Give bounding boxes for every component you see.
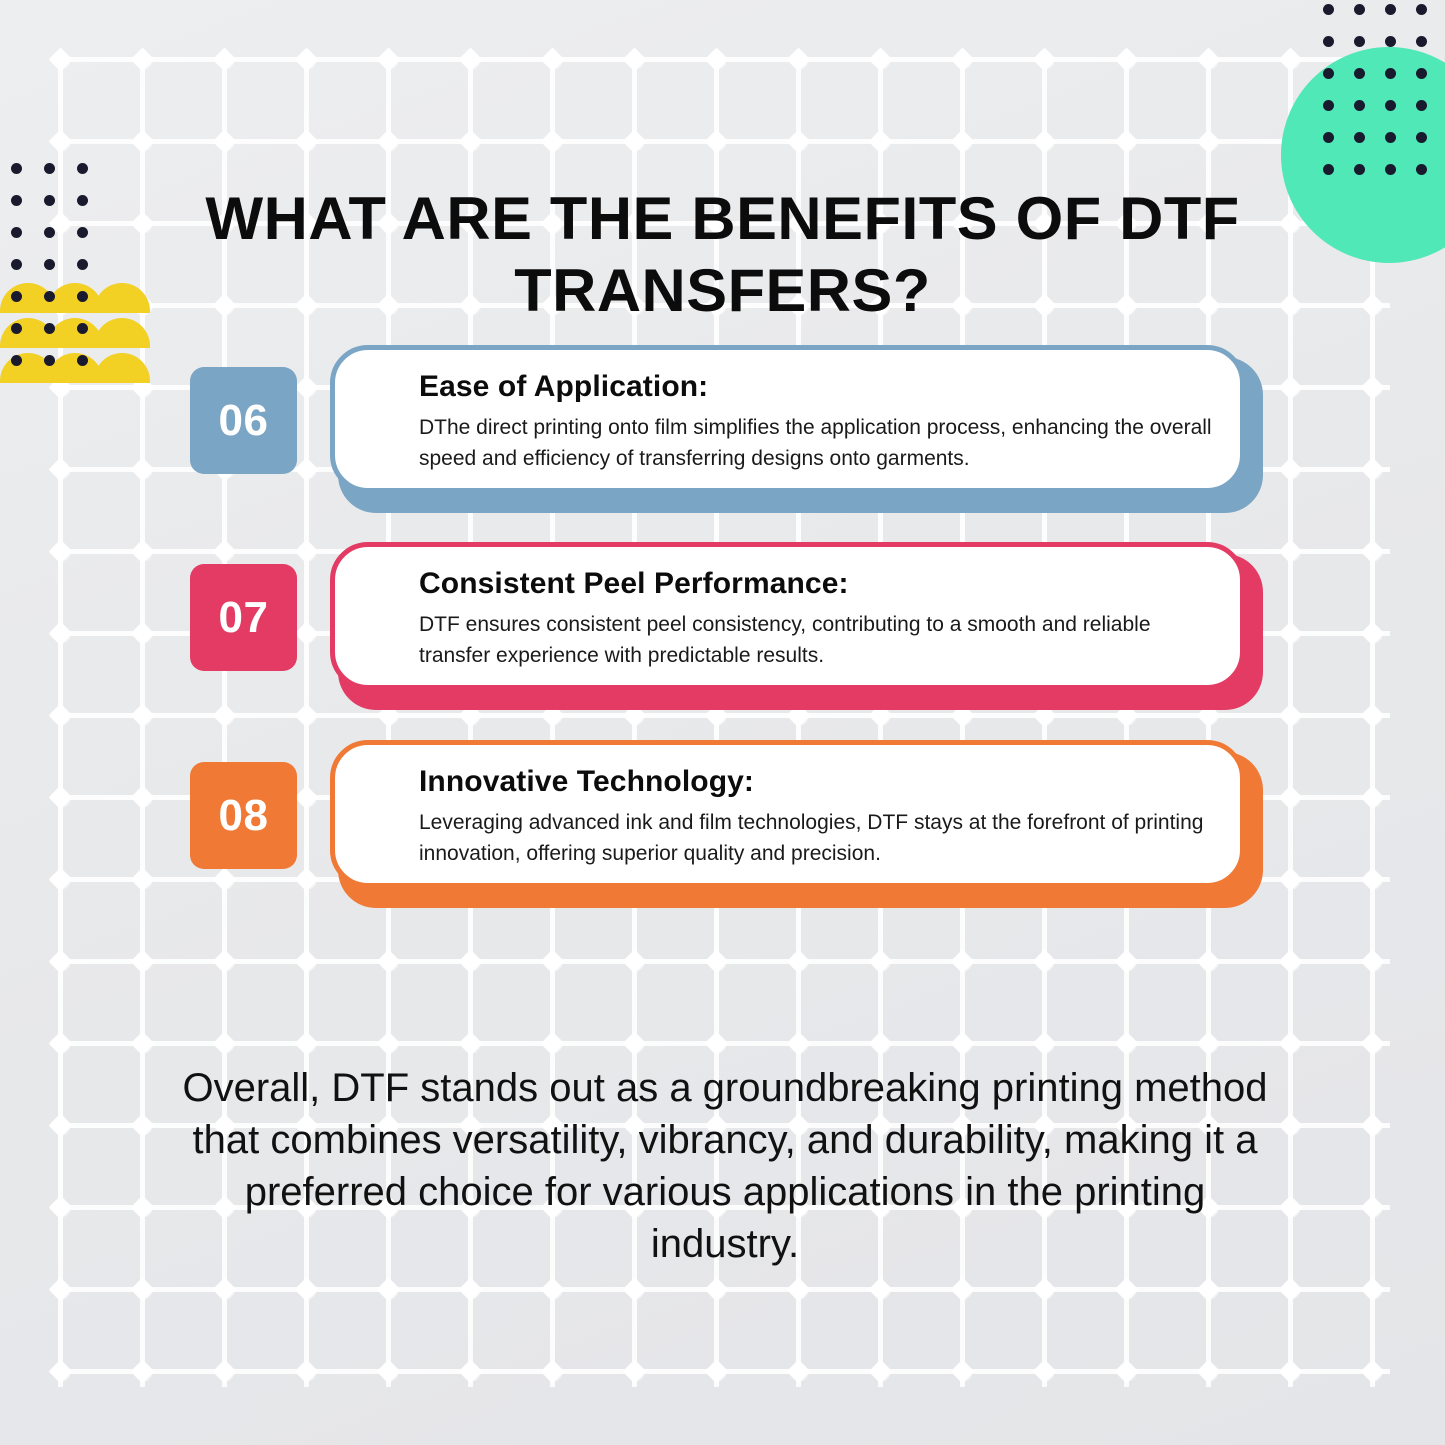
decorative-dot: [1416, 132, 1427, 143]
benefit-card-body: DThe direct printing onto film simplifie…: [419, 412, 1224, 474]
decorative-dot: [1385, 100, 1396, 111]
decorative-dot: [77, 227, 88, 238]
decorative-dot: [1354, 100, 1365, 111]
decorative-dot: [1354, 68, 1365, 79]
benefit-card-shell: Ease of Application:DThe direct printing…: [330, 345, 1255, 509]
benefit-number-badge: 07: [190, 564, 297, 671]
decorative-dot: [1323, 68, 1334, 79]
decorative-dot: [1385, 68, 1396, 79]
decorative-dot: [1416, 100, 1427, 111]
decorative-dot: [44, 259, 55, 270]
decorative-dot: [1323, 164, 1334, 175]
decorative-dot: [1354, 164, 1365, 175]
decorative-dot: [1416, 36, 1427, 47]
benefit-card-shell: Innovative Technology:Leveraging advance…: [330, 740, 1255, 904]
benefit-card-text: Consistent Peel Performance:DTF ensures …: [419, 565, 1224, 671]
decorative-dot: [1385, 164, 1396, 175]
benefit-card-heading: Innovative Technology:: [419, 763, 1224, 801]
decorative-dot: [1385, 36, 1396, 47]
decorative-dot: [77, 163, 88, 174]
decorative-dot: [77, 291, 88, 302]
decorative-dot: [1416, 68, 1427, 79]
benefit-number-badge: 06: [190, 367, 297, 474]
decorative-dot: [77, 323, 88, 334]
decorative-dot: [77, 355, 88, 366]
yellow-half-circle: [94, 283, 150, 313]
decorative-dot: [11, 163, 22, 174]
benefit-card-text: Innovative Technology:Leveraging advance…: [419, 763, 1224, 869]
decorative-dot: [1323, 132, 1334, 143]
decorative-dot: [44, 195, 55, 206]
decorative-dot: [77, 195, 88, 206]
decorative-dot: [11, 195, 22, 206]
decorative-dot: [44, 291, 55, 302]
benefit-card[interactable]: 06Ease of Application:DThe direct printi…: [190, 345, 1270, 509]
benefit-card-text: Ease of Application:DThe direct printing…: [419, 368, 1224, 474]
benefit-card-face: Consistent Peel Performance:DTF ensures …: [330, 542, 1245, 690]
closing-paragraph: Overall, DTF stands out as a groundbreak…: [180, 1062, 1270, 1270]
yellow-half-circles-decoration: [0, 283, 150, 388]
decorative-dot: [1354, 132, 1365, 143]
decorative-dot: [1385, 132, 1396, 143]
yellow-half-circle: [94, 318, 150, 348]
benefit-card-body: DTF ensures consistent peel consistency,…: [419, 609, 1224, 671]
page-title: WHAT ARE THE BENEFITS OF DTF TRANSFERS?: [169, 183, 1276, 327]
decorative-dot: [44, 355, 55, 366]
decorative-dot: [11, 291, 22, 302]
benefit-card[interactable]: 08Innovative Technology:Leveraging advan…: [190, 740, 1270, 904]
benefit-card-shell: Consistent Peel Performance:DTF ensures …: [330, 542, 1255, 706]
decorative-dot: [44, 227, 55, 238]
decorative-dot: [1416, 164, 1427, 175]
decorative-dot: [1323, 36, 1334, 47]
decorative-dot: [11, 227, 22, 238]
yellow-half-circle: [94, 353, 150, 383]
benefit-number-badge: 08: [190, 762, 297, 869]
decorative-dot: [1416, 4, 1427, 15]
benefit-card[interactable]: 07Consistent Peel Performance:DTF ensure…: [190, 542, 1270, 706]
decorative-dot: [77, 259, 88, 270]
decorative-dot: [44, 163, 55, 174]
decorative-dot: [1354, 4, 1365, 15]
benefit-card-body: Leveraging advanced ink and film technol…: [419, 807, 1224, 869]
infographic-poster: WHAT ARE THE BENEFITS OF DTF TRANSFERS? …: [0, 0, 1445, 1445]
decorative-dot: [1385, 4, 1396, 15]
decorative-dot: [1354, 36, 1365, 47]
decorative-dot: [1323, 4, 1334, 15]
decorative-dot: [11, 259, 22, 270]
benefit-card-heading: Ease of Application:: [419, 368, 1224, 406]
decorative-dot: [44, 323, 55, 334]
decorative-dot: [11, 355, 22, 366]
decorative-dot: [1323, 100, 1334, 111]
benefit-card-face: Ease of Application:DThe direct printing…: [330, 345, 1245, 493]
benefit-card-face: Innovative Technology:Leveraging advance…: [330, 740, 1245, 888]
decorative-dot: [11, 323, 22, 334]
benefit-card-heading: Consistent Peel Performance:: [419, 565, 1224, 603]
